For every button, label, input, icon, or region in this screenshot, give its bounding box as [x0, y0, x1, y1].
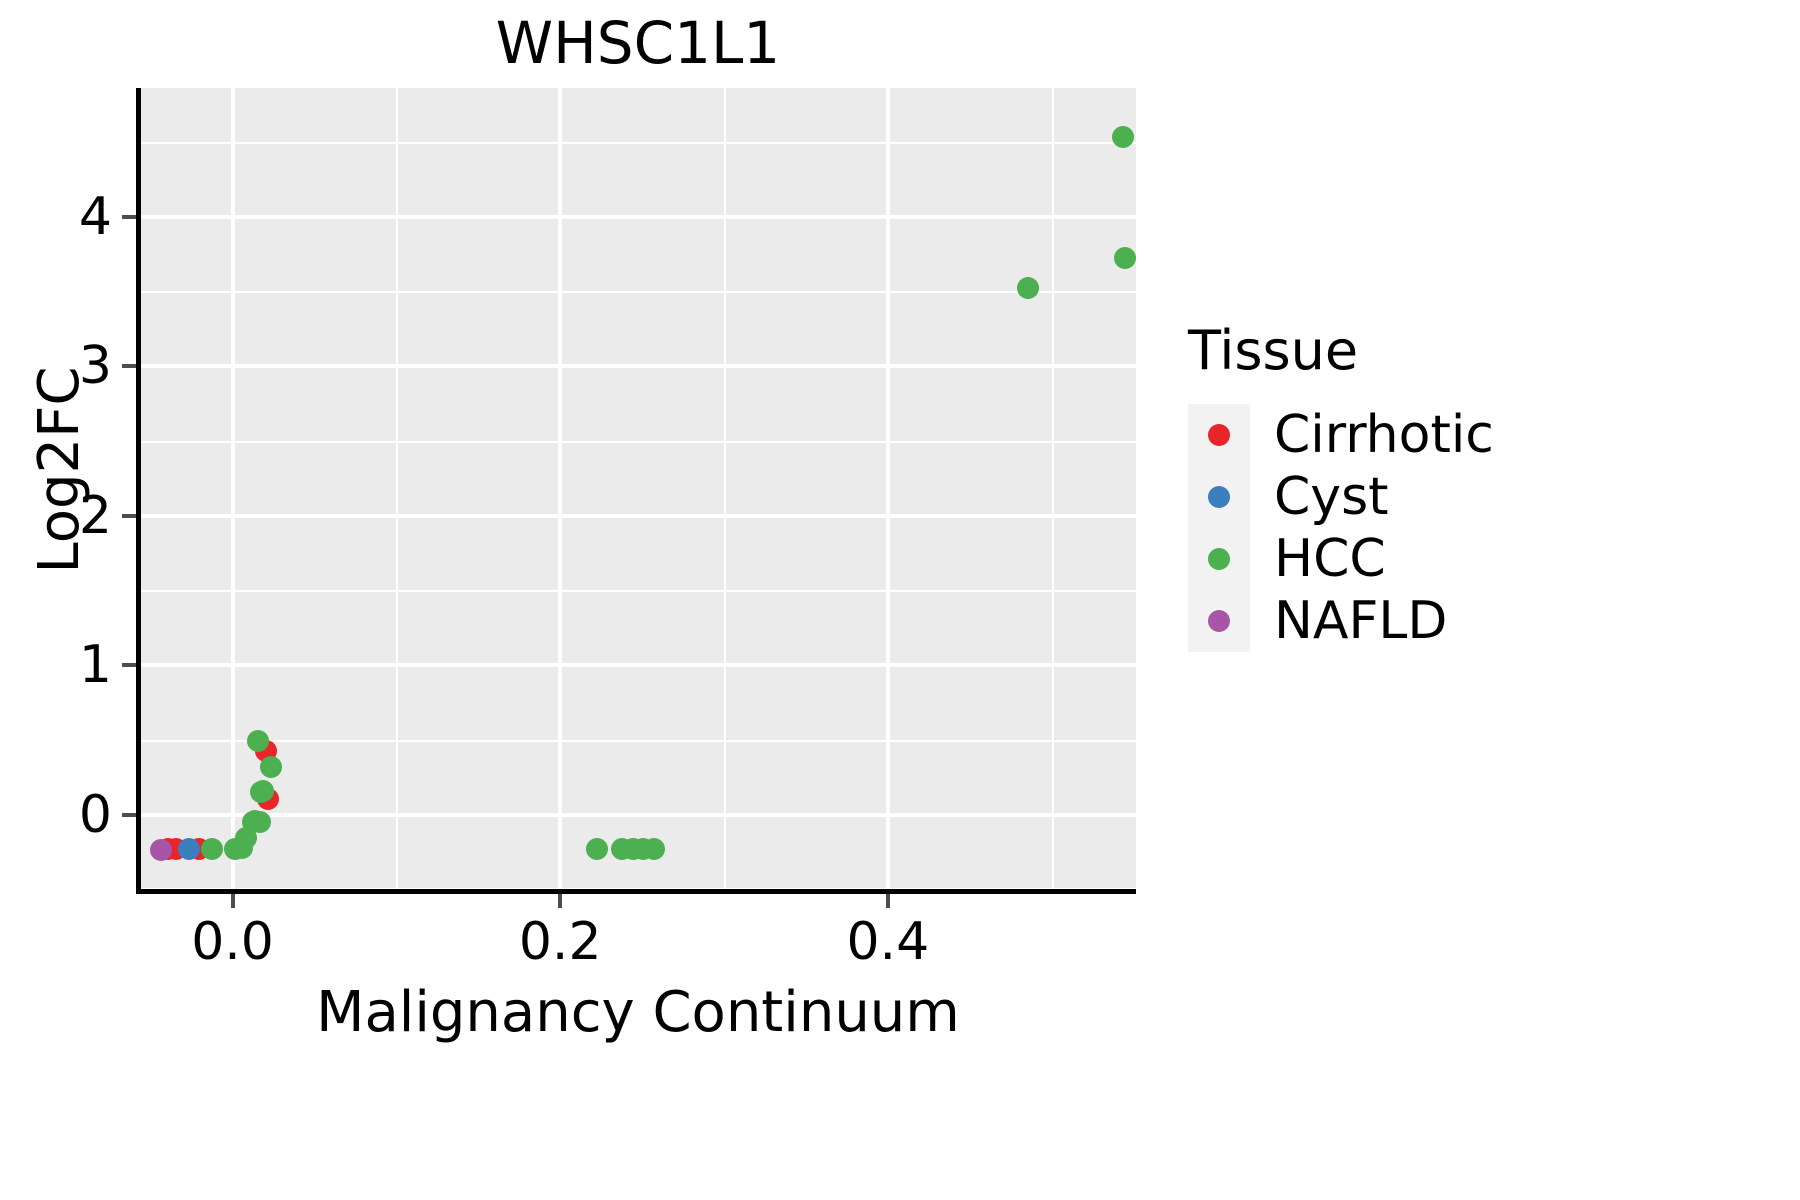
- y-axis-tick: [122, 364, 136, 368]
- legend-item-label: NAFLD: [1274, 590, 1447, 652]
- page-title: WHSC1L1: [140, 8, 1136, 78]
- legend-item-cirrhotic[interactable]: Cirrhotic: [1188, 404, 1618, 466]
- gridline-minor-horizontal: [140, 740, 1136, 742]
- data-point-hcc: [1114, 247, 1136, 269]
- x-axis-tick-label: 0.2: [460, 912, 660, 972]
- data-point-hcc: [201, 838, 223, 860]
- gridline-major-horizontal: [140, 663, 1136, 667]
- legend-dot-icon: [1208, 424, 1230, 446]
- gridline-minor-vertical: [1052, 88, 1054, 888]
- y-axis-tick: [122, 663, 136, 667]
- legend-dot-icon: [1208, 548, 1230, 570]
- legend: Tissue CirrhoticCystHCCNAFLD: [1188, 320, 1618, 652]
- plot-panel: [140, 88, 1136, 888]
- data-point-hcc: [586, 838, 608, 860]
- legend-item-nafld[interactable]: NAFLD: [1188, 590, 1618, 652]
- x-axis-line: [136, 889, 1136, 894]
- legend-item-label: Cirrhotic: [1274, 404, 1494, 466]
- scatter-plot-figure: WHSC1L1 01234 0.00.20.4 Log2FC Malignanc…: [0, 0, 1800, 1200]
- y-axis-line: [136, 88, 141, 894]
- data-point-hcc: [1017, 277, 1039, 299]
- x-axis-tick: [231, 894, 235, 908]
- y-axis-tick: [122, 215, 136, 219]
- legend-item-cyst[interactable]: Cyst: [1188, 466, 1618, 528]
- gridline-major-horizontal: [140, 364, 1136, 368]
- gridline-minor-horizontal: [140, 590, 1136, 592]
- data-point-hcc: [249, 811, 271, 833]
- x-axis-label: Malignancy Continuum: [140, 980, 1136, 1046]
- legend-key-swatch: [1188, 466, 1250, 528]
- gridline-major-vertical: [231, 88, 235, 888]
- legend-key-swatch: [1188, 528, 1250, 590]
- gridline-major-horizontal: [140, 813, 1136, 817]
- gridline-minor-vertical: [724, 88, 726, 888]
- data-point-hcc: [1112, 126, 1134, 148]
- gridline-major-vertical: [886, 88, 890, 888]
- legend-dot-icon: [1208, 486, 1230, 508]
- x-axis-tick-label: 0.4: [788, 912, 988, 972]
- legend-item-hcc[interactable]: HCC: [1188, 528, 1618, 590]
- data-point-hcc: [260, 756, 282, 778]
- data-point-nafld: [150, 839, 172, 861]
- gridline-minor-horizontal: [140, 142, 1136, 144]
- y-axis-tick: [122, 514, 136, 518]
- y-axis-tick: [122, 813, 136, 817]
- legend-key-swatch: [1188, 590, 1250, 652]
- gridline-minor-vertical: [396, 88, 398, 888]
- gridline-major-vertical: [558, 88, 562, 888]
- gridline-major-horizontal: [140, 215, 1136, 219]
- legend-dot-icon: [1208, 610, 1230, 632]
- legend-key-swatch: [1188, 404, 1250, 466]
- legend-item-label: HCC: [1274, 528, 1386, 590]
- x-axis-tick: [886, 894, 890, 908]
- x-axis-tick-label: 0.0: [133, 912, 333, 972]
- gridline-minor-horizontal: [140, 441, 1136, 443]
- x-axis-tick: [558, 894, 562, 908]
- data-point-hcc: [252, 780, 274, 802]
- legend-item-label: Cyst: [1274, 466, 1389, 528]
- legend-title: Tissue: [1188, 320, 1618, 382]
- gridline-minor-horizontal: [140, 291, 1136, 293]
- data-point-hcc: [247, 730, 269, 752]
- data-point-hcc: [643, 838, 665, 860]
- legend-items: CirrhoticCystHCCNAFLD: [1188, 404, 1618, 652]
- y-axis-label: Log2FC: [30, 70, 90, 870]
- gridline-major-horizontal: [140, 514, 1136, 518]
